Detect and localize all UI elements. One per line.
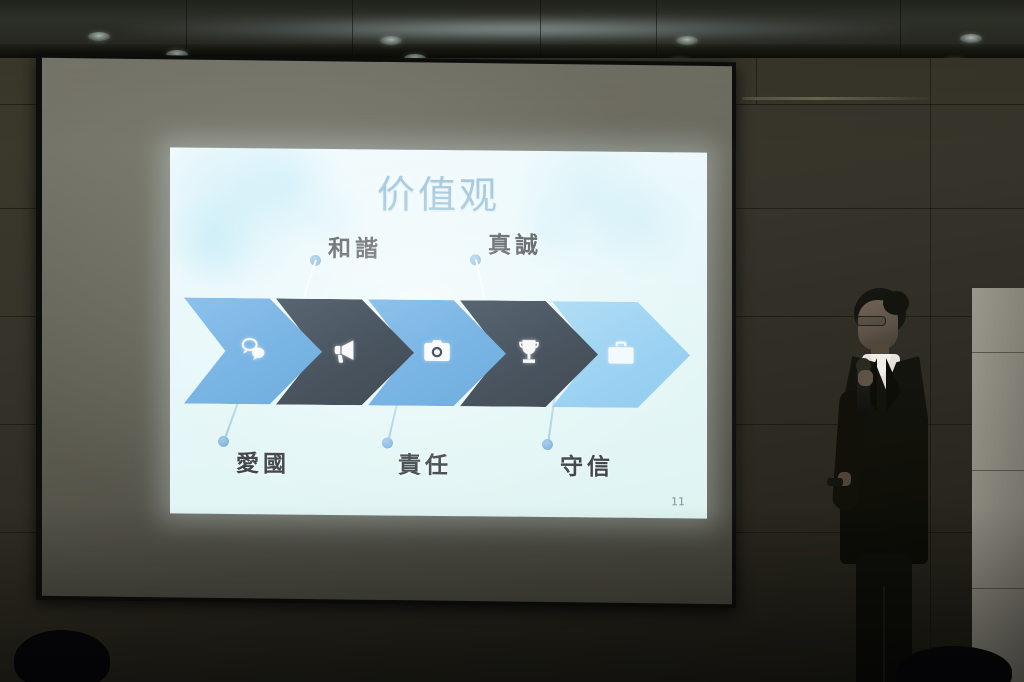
top-label-text-1: 和諧 xyxy=(328,229,382,264)
presentation-clicker-icon xyxy=(827,478,843,486)
presenter-hair-bun xyxy=(883,291,909,315)
audience-head-1 xyxy=(14,630,110,682)
ceiling-downlight xyxy=(380,36,402,45)
presenter-hand-holding-mic xyxy=(858,370,873,386)
top-label-text-2: 真誠 xyxy=(488,225,542,260)
ceiling xyxy=(0,0,1024,62)
glasses-icon xyxy=(856,316,886,326)
ceiling-downlight xyxy=(88,32,110,41)
presenter-leg-seam xyxy=(883,586,885,682)
cabinet-seam xyxy=(972,588,1024,589)
bottom-label-text-1: 愛國 xyxy=(236,444,290,479)
megaphone-icon xyxy=(330,334,360,369)
ceiling-downlight xyxy=(960,34,982,43)
presenter xyxy=(826,286,946,682)
slide-title: 价值观 xyxy=(170,161,707,221)
camera-icon xyxy=(422,335,452,370)
wall-mounted-rail xyxy=(742,97,930,100)
chevron-process-diagram xyxy=(184,298,694,409)
cabinet-seam xyxy=(972,352,1024,353)
projected-slide: 价值观 和諧真誠愛國責任守信 11 xyxy=(170,147,707,518)
cabinet-seam xyxy=(972,470,1024,471)
ceiling-downlight xyxy=(676,36,698,45)
trophy-icon xyxy=(514,336,544,371)
side-cabinet xyxy=(972,288,1024,682)
slide-page-number: 11 xyxy=(671,495,685,508)
briefcase-icon xyxy=(606,337,636,372)
lecture-hall-scene: 价值观 和諧真誠愛國責任守信 11 xyxy=(0,0,1024,682)
bottom-label-text-3: 守信 xyxy=(560,447,614,482)
bottom-label-text-2: 責任 xyxy=(398,446,452,481)
speech-bubbles-icon xyxy=(238,334,268,369)
ceiling-light-glow xyxy=(120,16,910,42)
